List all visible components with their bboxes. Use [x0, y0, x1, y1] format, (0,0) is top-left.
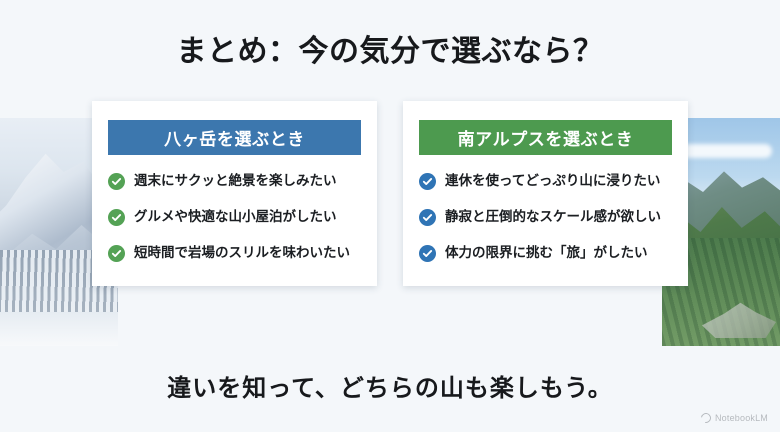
photo-snowfield	[0, 312, 118, 346]
notebooklm-watermark: NotebookLM	[701, 413, 768, 423]
list-item: 静寂と圧倒的なスケール感が欲しい	[419, 209, 672, 226]
list-item: 週末にサクッと絶景を楽しみたい	[108, 173, 361, 190]
comparison-cards: 八ヶ岳を選ぶとき 週末にサクッと絶景を楽しみたい グルメや快適な山小屋泊がしたい…	[92, 101, 688, 286]
closing-caption: 違いを知って、どちらの山も楽しもう。	[0, 368, 780, 403]
page-title: まとめ：今の気分で選ぶなら？	[0, 26, 780, 70]
list-item-label: 体力の限界に挑む「旅」がしたい	[445, 245, 648, 262]
list-item: グルメや快適な山小屋泊がしたい	[108, 209, 361, 226]
notebooklm-logo-icon	[699, 411, 713, 425]
card-list-yatsugatake: 週末にサクッと絶景を楽しみたい グルメや快適な山小屋泊がしたい 短時間で岩場のス…	[108, 173, 361, 262]
card-header-yatsugatake: 八ヶ岳を選ぶとき	[108, 120, 361, 155]
card-list-minami-alps: 連休を使ってどっぷり山に浸りたい 静寂と圧倒的なスケール感が欲しい 体力の限界に…	[419, 173, 672, 262]
check-circle-icon	[108, 173, 125, 190]
list-item-label: 短時間で岩場のスリルを味わいたい	[134, 245, 350, 262]
list-item-label: 連休を使ってどっぷり山に浸りたい	[445, 173, 660, 190]
card-yatsugatake: 八ヶ岳を選ぶとき 週末にサクッと絶景を楽しみたい グルメや快適な山小屋泊がしたい…	[92, 101, 377, 286]
list-item: 体力の限界に挑む「旅」がしたい	[419, 245, 672, 262]
card-minami-alps: 南アルプスを選ぶとき 連休を使ってどっぷり山に浸りたい 静寂と圧倒的なスケール感…	[403, 101, 688, 286]
list-item: 連休を使ってどっぷり山に浸りたい	[419, 173, 672, 190]
watermark-label: NotebookLM	[715, 413, 768, 423]
list-item-label: 静寂と圧倒的なスケール感が欲しい	[445, 209, 661, 226]
check-circle-icon	[419, 209, 436, 226]
check-circle-icon	[108, 245, 125, 262]
check-circle-icon	[108, 209, 125, 226]
list-item: 短時間で岩場のスリルを味わいたい	[108, 245, 361, 262]
check-circle-icon	[419, 245, 436, 262]
check-circle-icon	[419, 173, 436, 190]
card-header-minami-alps: 南アルプスを選ぶとき	[419, 120, 672, 155]
list-item-label: 週末にサクッと絶景を楽しみたい	[134, 173, 337, 190]
list-item-label: グルメや快適な山小屋泊がしたい	[134, 209, 337, 226]
